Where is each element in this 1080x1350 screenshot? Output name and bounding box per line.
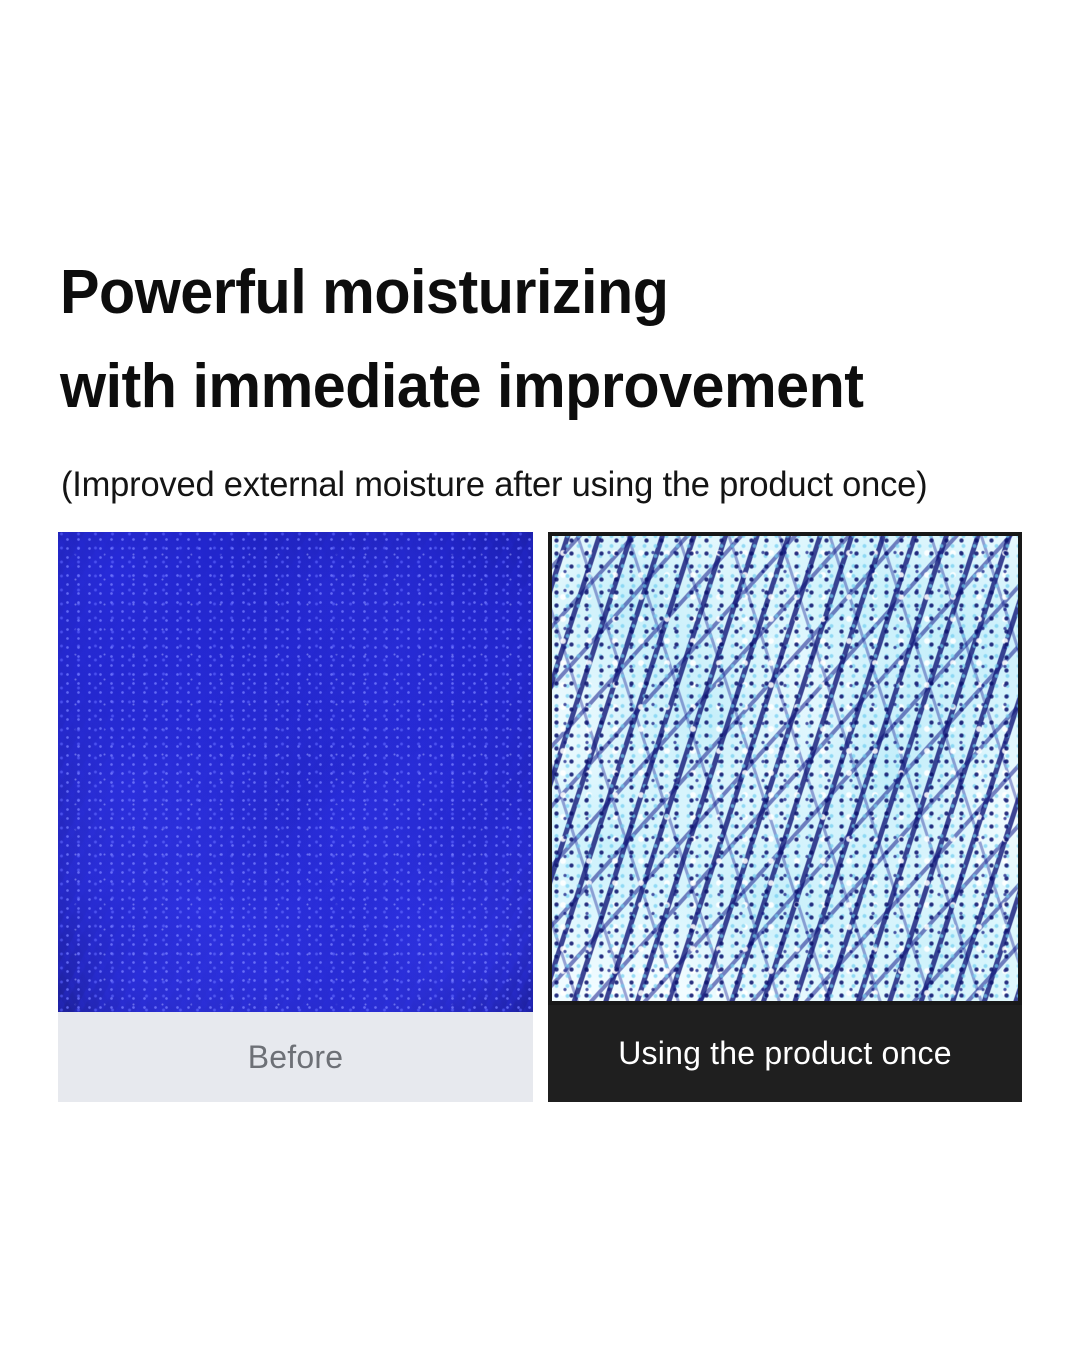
comparison-panel-before: Before — [58, 532, 533, 1102]
subtitle: (Improved external moisture after using … — [61, 463, 1026, 507]
after-skin-scan-image — [552, 536, 1018, 1001]
after-caption-bar: Using the product once — [548, 1005, 1022, 1102]
after-image-frame — [548, 532, 1022, 1005]
promo-page: Powerful moisturizing with immediate imp… — [0, 0, 1080, 1350]
before-image-frame — [58, 532, 533, 1012]
before-caption-label: Before — [248, 1039, 343, 1076]
comparison-panel-after: Using the product once — [548, 532, 1022, 1102]
before-after-comparison: Before Using the product once — [58, 532, 1022, 1102]
before-skin-scan-image — [58, 532, 533, 1012]
page-title: Powerful moisturizing with immediate imp… — [60, 246, 977, 434]
before-caption-bar: Before — [58, 1012, 533, 1102]
after-caption-label: Using the product once — [618, 1035, 952, 1072]
